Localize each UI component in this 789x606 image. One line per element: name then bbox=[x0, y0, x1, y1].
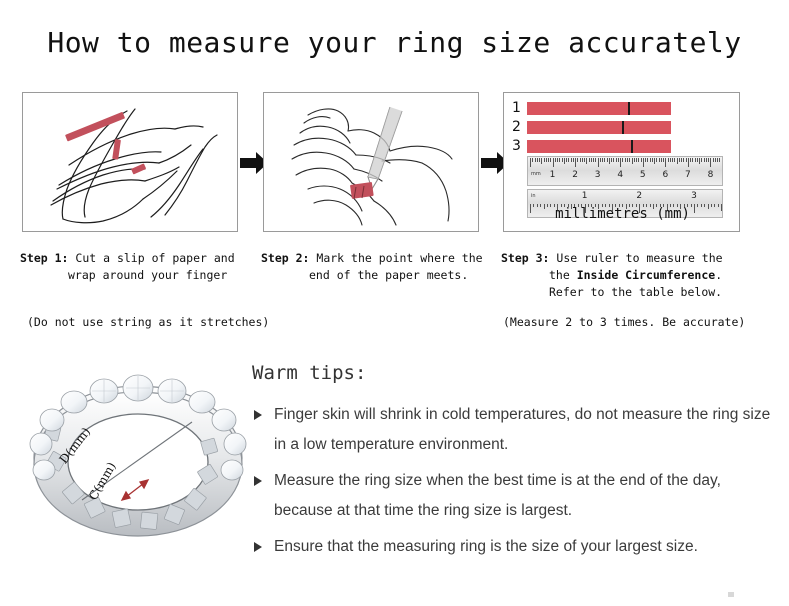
measured-strip-row: 3 bbox=[512, 140, 671, 153]
step-2-illustration-panel bbox=[263, 92, 479, 232]
step-3-line-2-suffix: . bbox=[715, 268, 722, 282]
corner-artifact bbox=[728, 592, 734, 597]
ruler-metric-tick-label: 5 bbox=[640, 170, 646, 180]
ruler-imperial-tick-label: 3 bbox=[691, 191, 697, 201]
ruler-imperial-tick-label: 1 bbox=[582, 191, 588, 201]
step-3-line-1: Use ruler to measure the bbox=[556, 251, 722, 265]
triangle-bullet-icon bbox=[254, 476, 262, 486]
step-2-line-2: end of the paper meets. bbox=[261, 267, 496, 284]
hand-marking-paper-drawing bbox=[264, 93, 478, 231]
step-1-note: (Do not use string as it stretches) bbox=[27, 315, 269, 329]
triangle-bullet-icon bbox=[254, 542, 262, 552]
millimetres-caption: millimetres (mm) bbox=[504, 206, 740, 222]
paper-strip bbox=[527, 140, 671, 153]
step-3-caption: Step 3: Use ruler to measure the the Ins… bbox=[501, 250, 751, 301]
step-3-line-2: the Inside Circumference. bbox=[501, 267, 751, 284]
strip-mark bbox=[622, 121, 624, 134]
ruler-metric-scale: mm 12345678 bbox=[527, 156, 723, 186]
step-3-illustration-panel: 1 2 3 mm 12345678 123 bbox=[503, 92, 740, 232]
page-title: How to measure your ring size accurately bbox=[0, 26, 789, 59]
imperial-unit-label: in bbox=[531, 193, 536, 199]
paper-strip bbox=[527, 102, 671, 115]
ruler-imperial-tick-label: 2 bbox=[636, 191, 642, 201]
tip-text: Ensure that the measuring ring is the si… bbox=[274, 538, 698, 555]
warm-tips-heading: Warm tips: bbox=[252, 362, 772, 384]
ruler-metric-tick-label: 8 bbox=[708, 170, 714, 180]
strip-mark bbox=[631, 140, 633, 153]
ruler-metric-tick-label: 3 bbox=[595, 170, 601, 180]
ruler-metric-tick-label: 2 bbox=[572, 170, 578, 180]
measured-strip-row: 1 bbox=[512, 102, 671, 115]
step-3-line-2-prefix: the bbox=[549, 268, 577, 282]
strip-number: 3 bbox=[512, 140, 527, 153]
triangle-bullet-icon bbox=[254, 410, 262, 420]
step-3-label: Step 3: bbox=[501, 251, 549, 265]
ruler-metric-tick-label: 1 bbox=[550, 170, 556, 180]
step-2-label: Step 2: bbox=[261, 251, 309, 265]
tip-item: Finger skin will shrink in cold temperat… bbox=[252, 400, 772, 460]
tip-text: Finger skin will shrink in cold temperat… bbox=[274, 406, 770, 453]
step-1-caption: Step 1: Cut a slip of paper and wrap aro… bbox=[20, 250, 255, 284]
steps-row: 1 2 3 mm 12345678 123 bbox=[0, 92, 789, 242]
step-2-caption: Step 2: Mark the point where the end of … bbox=[261, 250, 496, 284]
tip-text: Measure the ring size when the best time… bbox=[274, 472, 721, 519]
step-3-line-3: Refer to the table below. bbox=[501, 284, 751, 301]
hand-with-paper-strip-drawing bbox=[23, 93, 237, 231]
inside-circumference-emphasis: Inside Circumference bbox=[577, 268, 715, 282]
step-1-illustration-panel bbox=[22, 92, 238, 232]
strip-number: 1 bbox=[512, 102, 527, 115]
metric-unit-label: mm bbox=[531, 171, 541, 177]
strip-number: 2 bbox=[512, 121, 527, 134]
step-2-line-1: Mark the point where the bbox=[316, 251, 482, 265]
ruler-metric-tick-label: 4 bbox=[617, 170, 623, 180]
step-1-line-1: Cut a slip of paper and bbox=[75, 251, 234, 265]
ruler-metric-tick-label: 6 bbox=[662, 170, 668, 180]
measured-strip-row: 2 bbox=[512, 121, 671, 134]
tip-item: Ensure that the measuring ring is the si… bbox=[252, 532, 772, 562]
strip-mark bbox=[628, 102, 630, 115]
step-1-label: Step 1: bbox=[20, 251, 68, 265]
warm-tips-section: Warm tips: Finger skin will shrink in co… bbox=[252, 362, 772, 568]
ruler-metric-tick-label: 7 bbox=[685, 170, 691, 180]
step-3-note: (Measure 2 to 3 times. Be accurate) bbox=[503, 315, 745, 329]
tip-item: Measure the ring size when the best time… bbox=[252, 466, 772, 526]
paper-strip bbox=[527, 121, 671, 134]
step-1-line-2: wrap around your finger bbox=[20, 267, 255, 284]
